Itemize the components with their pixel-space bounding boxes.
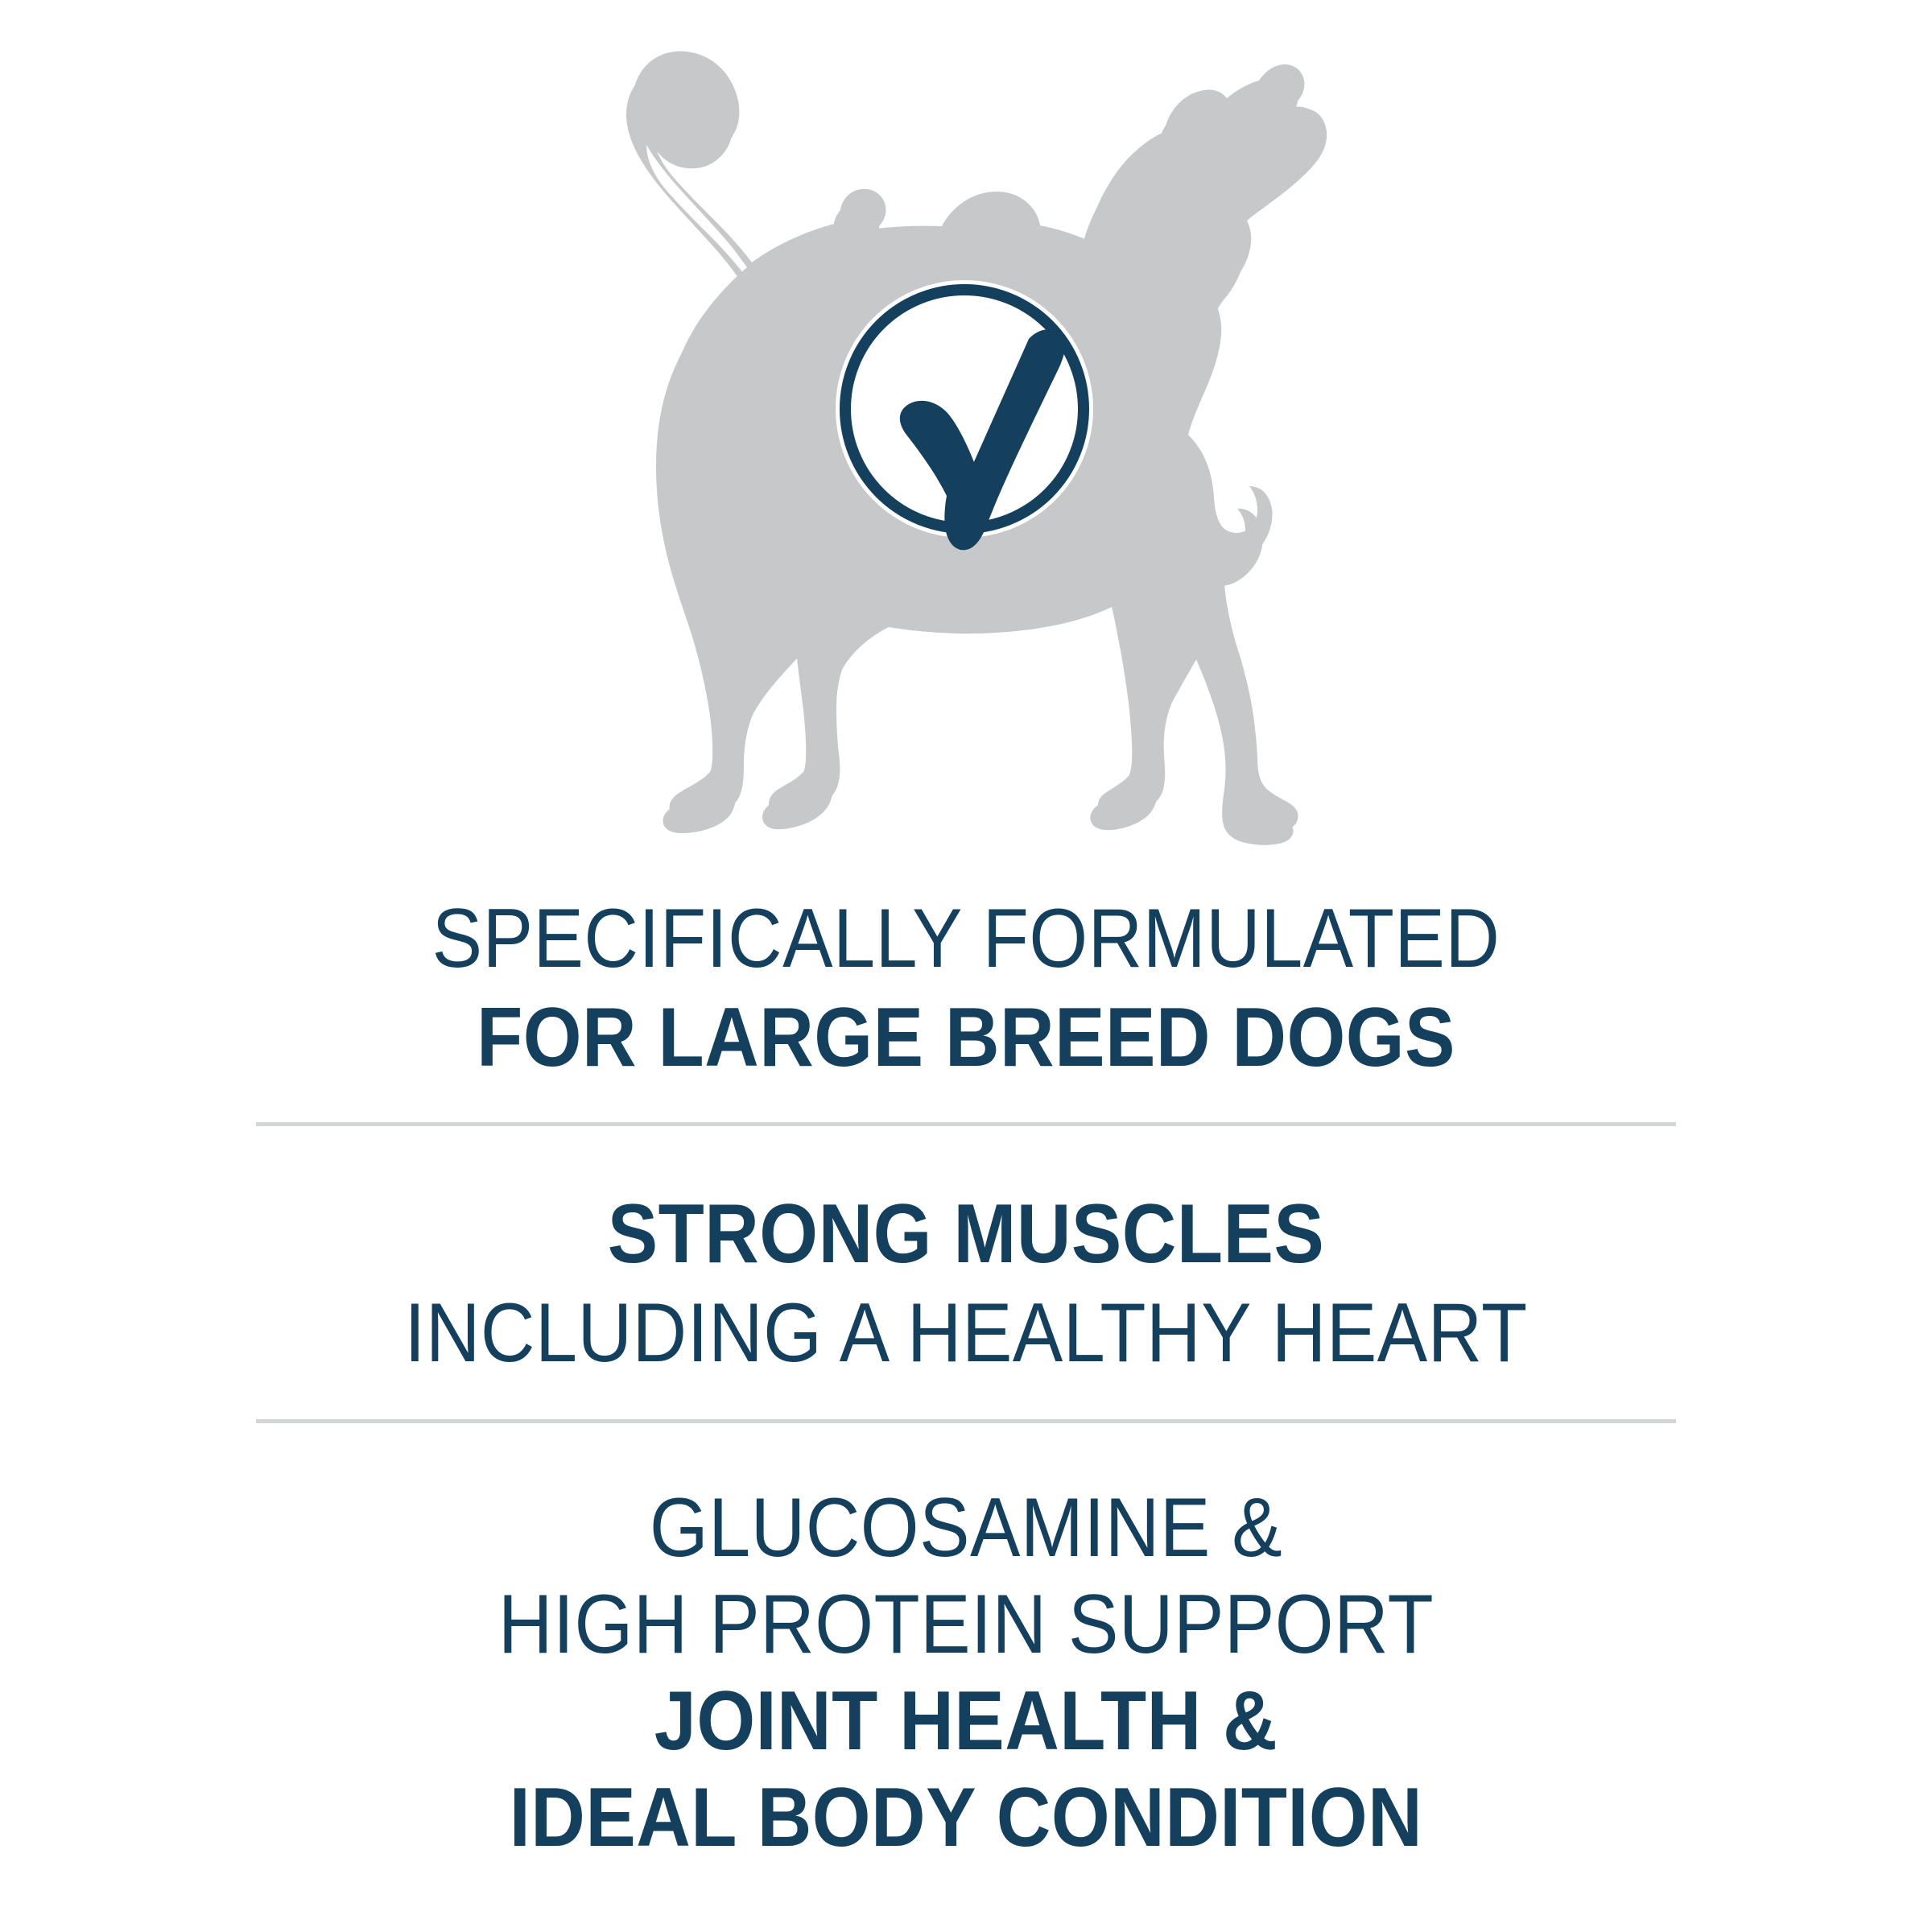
benefit-3-line-4: IDEAL BODY CONDITION [97, 1769, 1835, 1866]
hero-illustration [0, 0, 1932, 877]
benefit-1-line-2: FOR LARGE BREED DOGS [97, 989, 1835, 1087]
benefit-3-line-3: JOINT HEALTH & [97, 1673, 1835, 1769]
benefit-3-line-2: HIGH PROTEIN SUPPORT [97, 1576, 1835, 1673]
benefit-glucosamine-joint-health: GLUCOSAMINE & HIGH PROTEIN SUPPORT JOINT… [0, 1423, 1932, 1866]
benefit-specifically-formulated: SPECIFICALLY FORMULATED FOR LARGE BREED … [0, 877, 1932, 1087]
benefit-1-line-1: SPECIFICALLY FORMULATED [97, 889, 1835, 989]
benefit-3-line-1: GLUCOSAMINE & [97, 1480, 1835, 1576]
benefits-list: SPECIFICALLY FORMULATED FOR LARGE BREED … [0, 877, 1932, 1866]
benefit-2-line-2: INCLUDING A HEALTHY HEART [97, 1284, 1835, 1382]
benefit-2-line-1: STRONG MUSCLES [97, 1184, 1835, 1284]
benefit-strong-muscles: STRONG MUSCLES INCLUDING A HEALTHY HEART [0, 1126, 1932, 1382]
infographic-panel: SPECIFICALLY FORMULATED FOR LARGE BREED … [0, 0, 1932, 1932]
